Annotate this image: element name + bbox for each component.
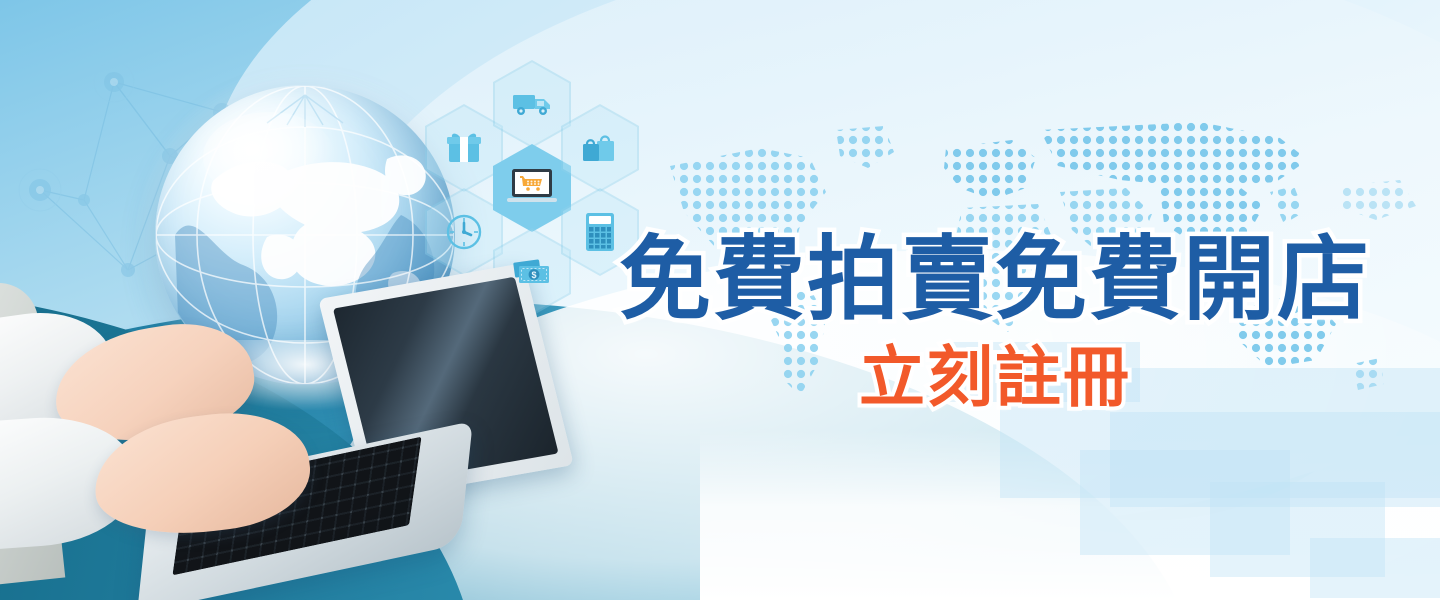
truck-icon bbox=[493, 60, 571, 148]
banner-headline: 免費拍賣免費開店 bbox=[575, 232, 1415, 328]
hands-typing-laptop-photo bbox=[0, 268, 550, 600]
banner-subheading: 立刻註冊 bbox=[575, 342, 1415, 415]
svg-text:$: $ bbox=[531, 270, 536, 280]
banner-copy: 免費拍賣免費開店 立刻註冊 bbox=[575, 232, 1415, 414]
hexagon-icon-cluster: $ bbox=[425, 48, 640, 288]
globe-highlight bbox=[203, 112, 335, 202]
clock-icon bbox=[425, 188, 503, 276]
money-icon: $ bbox=[493, 228, 571, 316]
gift-icon bbox=[425, 104, 503, 192]
promo-banner: $ bbox=[0, 0, 1440, 600]
shopping-bag-icon bbox=[561, 104, 639, 192]
laptop-cart-icon bbox=[493, 144, 571, 232]
calculator-icon bbox=[561, 188, 639, 276]
